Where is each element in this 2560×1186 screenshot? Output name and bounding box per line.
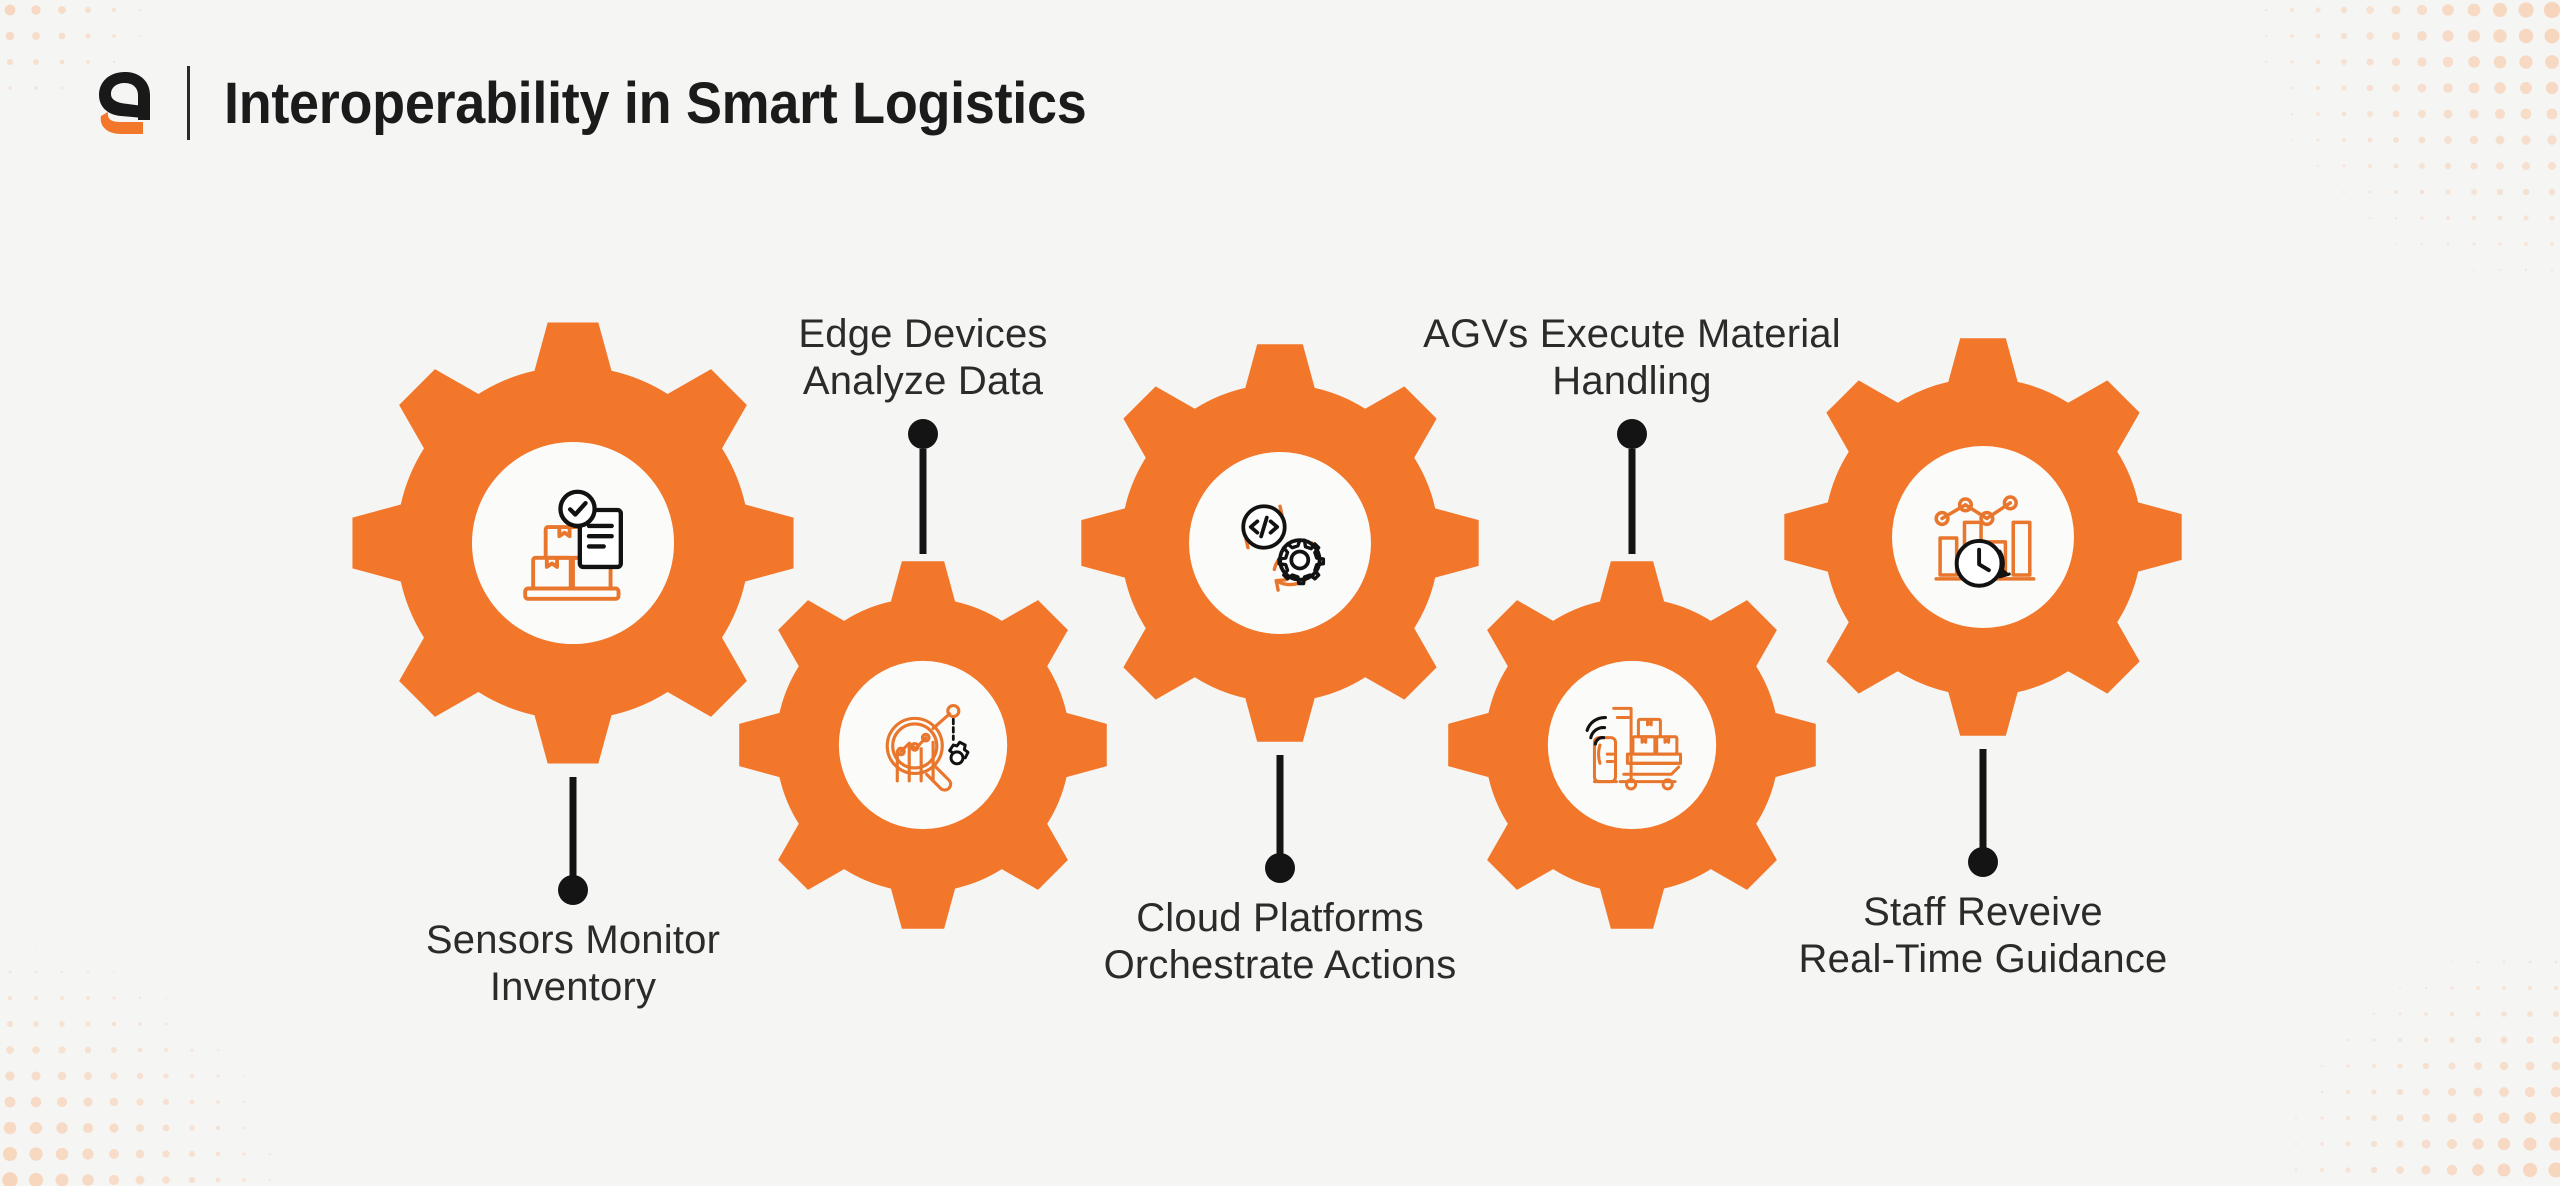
connector-line <box>570 777 577 877</box>
infographic-canvas: Interoperability in Smart Logistics <box>0 0 2560 1186</box>
connector-staff <box>1963 749 2003 879</box>
page-header: Interoperability in Smart Logistics <box>95 60 1151 146</box>
connector-endpoint-dot <box>1968 847 1998 877</box>
halftone-pattern-bottom-left <box>0 936 300 1186</box>
connector-line <box>1980 749 1987 849</box>
connector-agvs <box>1612 419 1652 554</box>
header-divider <box>187 66 190 140</box>
connector-edge-devices <box>903 419 943 554</box>
node-label-cloud-platforms: Cloud Platforms Orchestrate Actions <box>1000 895 1560 989</box>
halftone-pattern-top-right <box>2230 0 2560 300</box>
gear-edge-devices[interactable] <box>732 554 1114 936</box>
connector-endpoint-dot <box>1265 853 1295 883</box>
node-label-agvs: AGVs Execute Material Handling <box>1352 311 1912 405</box>
connector-endpoint-dot <box>1617 419 1647 449</box>
connector-endpoint-dot <box>558 875 588 905</box>
connector-line <box>1277 755 1284 855</box>
gear-agvs[interactable] <box>1441 554 1823 936</box>
node-label-edge-devices: Edge Devices Analyze Data <box>643 311 1203 405</box>
connector-line <box>1629 449 1636 554</box>
connector-endpoint-dot <box>908 419 938 449</box>
company-logo <box>95 68 151 138</box>
connector-sensors <box>553 777 593 907</box>
halftone-pattern-bottom-right <box>2260 926 2560 1186</box>
node-label-sensors: Sensors Monitor Inventory <box>293 917 853 1011</box>
node-label-staff: Staff Reveive Real-Time Guidance <box>1703 889 2263 983</box>
connector-line <box>920 449 927 554</box>
page-title: Interoperability in Smart Logistics <box>224 70 1086 137</box>
connector-cloud-platforms <box>1260 755 1300 885</box>
